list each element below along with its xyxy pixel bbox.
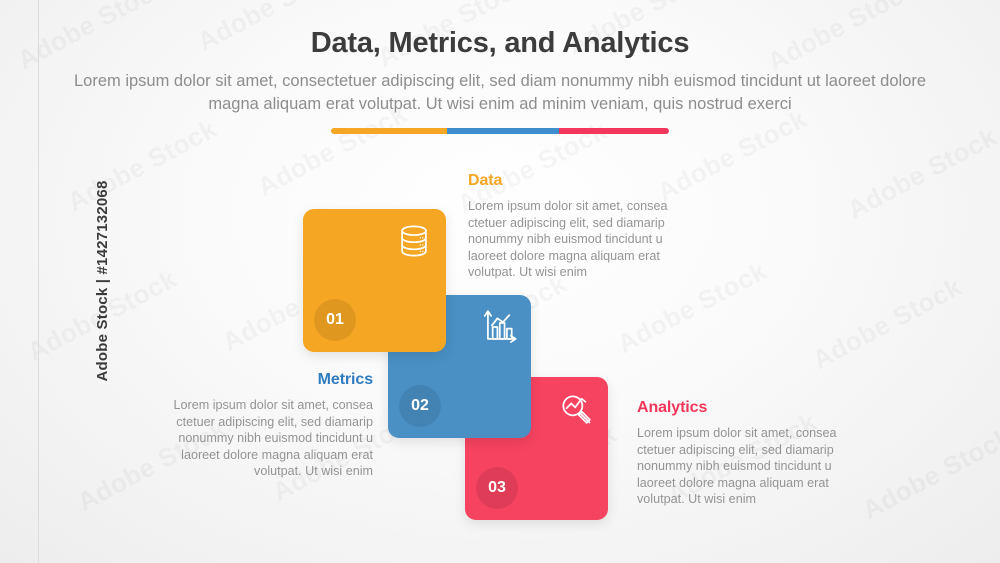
divider-segment-pink xyxy=(559,128,669,134)
bar-chart-icon xyxy=(480,308,518,346)
section-heading-analytics: Analytics xyxy=(637,399,865,417)
magnifier-analytics-icon xyxy=(557,390,595,428)
step-number-badge: 03 xyxy=(476,467,518,509)
section-heading-data: Data xyxy=(468,172,696,190)
watermark-tile: Adobe Stock xyxy=(807,271,967,376)
step-number-badge: 01 xyxy=(314,299,356,341)
adobe-stock-credit: Adobe Stock | #1427132068 xyxy=(94,181,111,382)
sidebar-divider xyxy=(38,0,39,563)
watermark-tile: Adobe Stock xyxy=(842,121,1000,226)
text-block-data: Data Lorem ipsum dolor sit amet, consea … xyxy=(468,172,696,281)
page-subtitle: Lorem ipsum dolor sit amet, consectetuer… xyxy=(60,70,940,116)
page-title: Data, Metrics, and Analytics xyxy=(0,27,1000,60)
text-block-analytics: Analytics Lorem ipsum dolor sit amet, co… xyxy=(637,399,865,508)
text-block-metrics: Metrics Lorem ipsum dolor sit amet, cons… xyxy=(145,371,373,480)
color-divider xyxy=(331,128,669,134)
database-icon xyxy=(395,222,433,260)
watermark-tile: Adobe Stock xyxy=(857,421,1000,526)
section-body-metrics: Lorem ipsum dolor sit amet, consea ctetu… xyxy=(145,397,373,480)
section-body-data: Lorem ipsum dolor sit amet, consea ctetu… xyxy=(468,198,696,281)
step-number-badge: 02 xyxy=(399,385,441,427)
divider-segment-blue xyxy=(447,128,559,134)
divider-segment-orange xyxy=(331,128,447,134)
infographic-canvas: Adobe Stock Adobe Stock Adobe Stock Adob… xyxy=(0,0,1000,563)
watermark-tile: Adobe Stock xyxy=(62,113,222,218)
section-body-analytics: Lorem ipsum dolor sit amet, consea ctetu… xyxy=(637,425,865,508)
section-heading-metrics: Metrics xyxy=(145,371,373,389)
step-card-data[interactable]: 01 xyxy=(303,209,446,352)
